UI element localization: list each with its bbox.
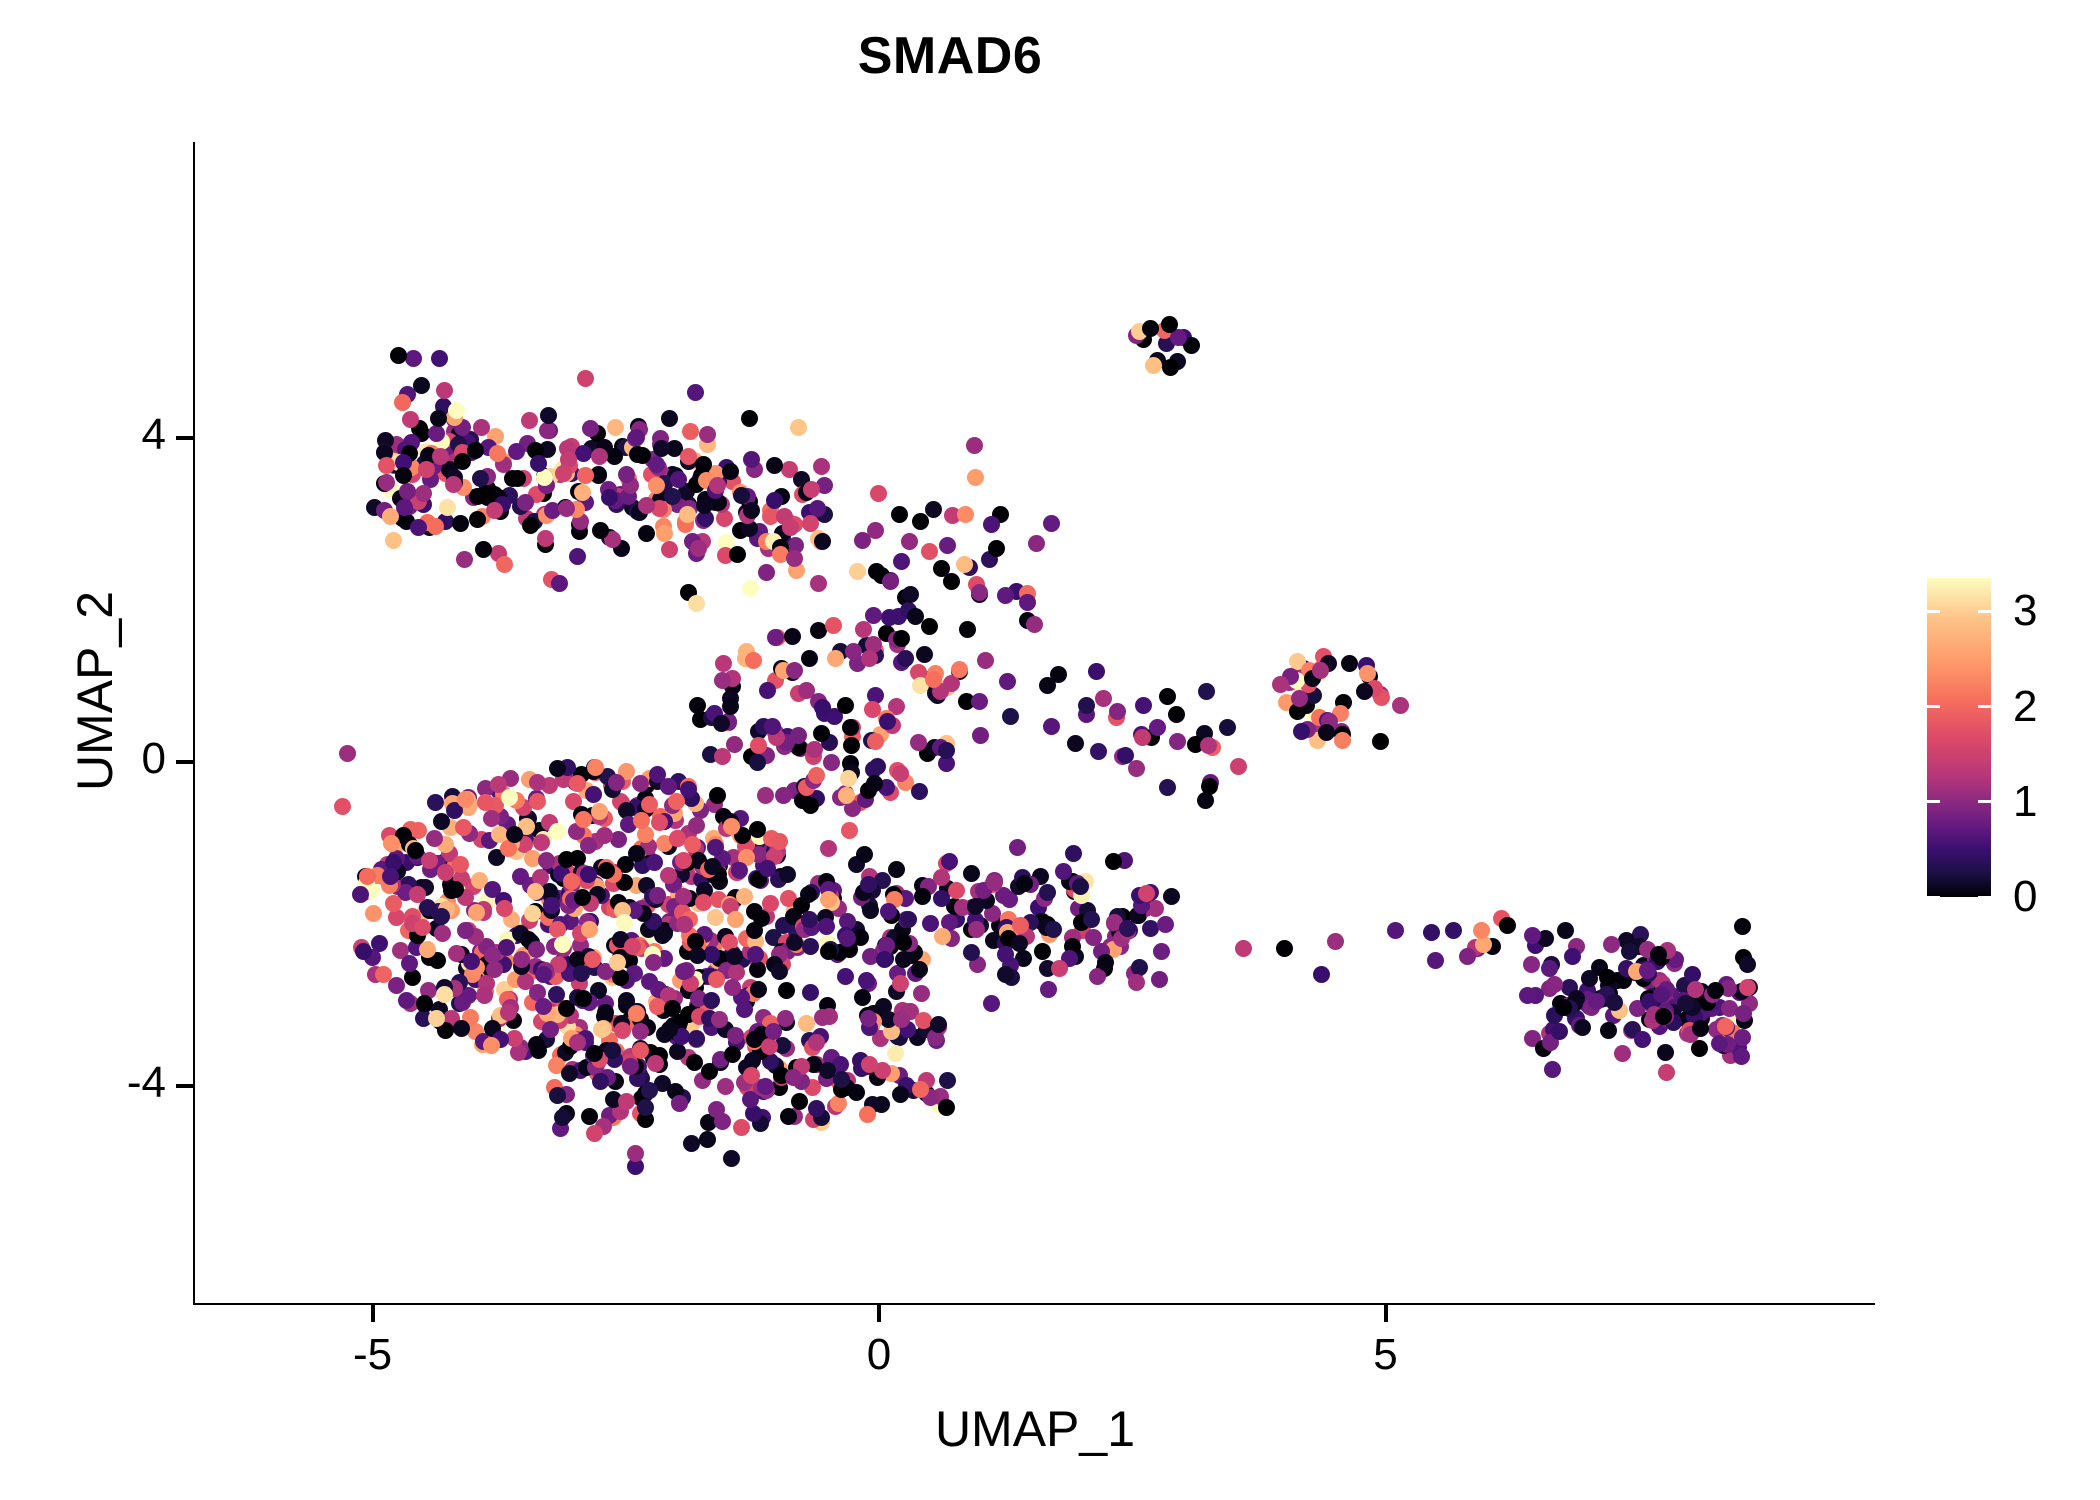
- scatter-point: [1557, 922, 1574, 939]
- scatter-point: [1334, 732, 1351, 749]
- scatter-point: [1603, 936, 1620, 953]
- scatter-point: [891, 506, 908, 523]
- scatter-point: [1012, 917, 1029, 934]
- colorbar-tick-0: [1978, 896, 1991, 899]
- scatter-point: [750, 737, 767, 754]
- scatter-point: [1128, 974, 1145, 991]
- colorbar-tick-3: [1927, 610, 1940, 613]
- scatter-point: [1168, 706, 1185, 723]
- scatter-point: [1219, 719, 1236, 736]
- scatter-point: [1043, 718, 1060, 735]
- scatter-point: [574, 889, 591, 906]
- scatter-point: [983, 995, 1000, 1012]
- scatter-point: [426, 830, 443, 847]
- scatter-point: [1691, 1040, 1708, 1057]
- scatter-point: [522, 517, 539, 534]
- scatter-point: [653, 440, 670, 457]
- scatter-point: [1564, 948, 1581, 965]
- scatter-point: [1028, 535, 1045, 552]
- scatter-point: [1655, 1008, 1672, 1025]
- scatter-point: [418, 461, 435, 478]
- scatter-point: [840, 770, 857, 787]
- scatter-point: [1657, 1044, 1674, 1061]
- scatter-point: [561, 1065, 578, 1082]
- scatter-point: [865, 607, 882, 624]
- scatter-point: [925, 671, 942, 688]
- colorbar-label-0: 0: [2013, 872, 2037, 922]
- scatter-point: [586, 1125, 603, 1142]
- scatter-point: [582, 420, 599, 437]
- scatter-point: [483, 810, 500, 827]
- y-tick-4: [176, 436, 193, 440]
- scatter-point: [1235, 940, 1252, 957]
- scatter-point: [733, 487, 750, 504]
- scatter-point: [1541, 960, 1558, 977]
- scatter-point: [753, 910, 770, 927]
- scatter-point: [528, 941, 545, 958]
- scatter-point: [383, 835, 400, 852]
- scatter-point: [802, 938, 819, 955]
- scatter-point: [604, 1042, 621, 1059]
- scatter-point: [745, 652, 762, 669]
- scatter-point: [339, 745, 356, 762]
- scatter-point: [359, 868, 376, 885]
- scatter-point: [921, 618, 938, 635]
- scatter-point: [938, 1099, 955, 1116]
- x-ticklabel-5: 5: [1286, 1330, 1486, 1380]
- scatter-point: [1653, 986, 1670, 1003]
- scatter-point: [656, 525, 673, 542]
- scatter-point: [628, 429, 645, 446]
- scatter-point: [521, 412, 538, 429]
- scatter-point: [1151, 971, 1168, 988]
- scatter-point: [778, 982, 795, 999]
- scatter-point: [983, 516, 1000, 533]
- scatter-point: [749, 754, 766, 771]
- scatter-point: [580, 866, 597, 883]
- scatter-point: [726, 948, 743, 965]
- scatter-point: [808, 1034, 825, 1051]
- scatter-point: [1614, 1045, 1631, 1062]
- scatter-point: [529, 774, 546, 791]
- scatter-point: [1276, 940, 1293, 957]
- scatter-point: [1134, 729, 1151, 746]
- scatter-point: [1546, 976, 1563, 993]
- scatter-point: [771, 833, 788, 850]
- scatter-point: [1169, 733, 1186, 750]
- scatter-point: [784, 628, 801, 645]
- scatter-point: [591, 448, 608, 465]
- scatter-point: [586, 1045, 603, 1062]
- scatter-point: [771, 963, 788, 980]
- scatter-point: [733, 1119, 750, 1136]
- scatter-point: [1159, 688, 1176, 705]
- scatter-point: [592, 1073, 609, 1090]
- scatter-point: [842, 719, 859, 736]
- scatter-point: [910, 734, 927, 751]
- scatter-point: [405, 350, 422, 367]
- scatter-point: [786, 550, 803, 567]
- scatter-point: [780, 1108, 797, 1125]
- scatter-point: [632, 775, 649, 792]
- scatter-point: [569, 1034, 586, 1051]
- scatter-point: [825, 617, 842, 634]
- scatter-point: [1016, 875, 1033, 892]
- scatter-point: [447, 881, 464, 898]
- scatter-point: [365, 905, 382, 922]
- scatter-point: [916, 646, 933, 663]
- colorbar-tick-0: [1927, 896, 1940, 899]
- scatter-point: [814, 1009, 831, 1026]
- scatter-point: [1650, 946, 1667, 963]
- scatter-point: [688, 817, 705, 834]
- scatter-point: [431, 350, 448, 367]
- scatter-point: [708, 971, 725, 988]
- scatter-point: [622, 1058, 639, 1075]
- scatter-point: [790, 419, 807, 436]
- scatter-point: [457, 922, 474, 939]
- scatter-point: [939, 537, 956, 554]
- scatter-point: [1201, 778, 1218, 795]
- scatter-point: [1739, 979, 1756, 996]
- scatter-point: [421, 852, 438, 869]
- scatter-point: [413, 377, 430, 394]
- scatter-point: [378, 474, 395, 491]
- scatter-point: [577, 467, 594, 484]
- scatter-point: [1392, 697, 1409, 714]
- scatter-point: [841, 822, 858, 839]
- scatter-point: [632, 1023, 649, 1040]
- scatter-point: [862, 902, 879, 919]
- scatter-point: [409, 886, 426, 903]
- scatter-point: [486, 961, 503, 978]
- scatter-point: [854, 989, 871, 1006]
- scatter-point: [1318, 724, 1335, 741]
- scatter-point: [504, 470, 521, 487]
- x-tick-5: [1384, 1305, 1388, 1322]
- scatter-point: [618, 1093, 635, 1110]
- scatter-point: [1519, 987, 1536, 1004]
- scatter-point: [427, 794, 444, 811]
- scatter-point: [609, 954, 626, 971]
- scatter-point: [558, 500, 575, 517]
- scatter-point: [838, 787, 855, 804]
- scatter-point: [616, 914, 633, 931]
- scatter-point: [477, 794, 494, 811]
- scatter-point: [1128, 760, 1145, 777]
- scatter-point: [1019, 594, 1036, 611]
- scatter-point: [858, 972, 875, 989]
- scatter-point: [483, 1037, 500, 1054]
- scatter-point: [703, 992, 720, 1009]
- scatter-point: [988, 540, 1005, 557]
- y-ticklabel--4: -4: [20, 1058, 166, 1108]
- scatter-point: [939, 1072, 956, 1089]
- scatter-point: [671, 1095, 688, 1112]
- scatter-point: [746, 1031, 763, 1048]
- scatter-point: [395, 467, 412, 484]
- scatter-point: [1034, 943, 1051, 960]
- scatter-point: [551, 575, 568, 592]
- scatter-point: [476, 987, 493, 1004]
- scatter-point: [638, 525, 655, 542]
- scatter-point: [428, 1010, 445, 1027]
- scatter-point: [902, 586, 919, 603]
- scatter-point: [1197, 792, 1214, 809]
- scatter-point: [848, 1084, 865, 1101]
- scatter-point: [1684, 966, 1701, 983]
- scatter-point: [802, 984, 819, 1001]
- scatter-point: [675, 852, 692, 869]
- scatter-point: [724, 979, 741, 996]
- scatter-point: [508, 443, 525, 460]
- scatter-point: [855, 621, 872, 638]
- scatter-point: [913, 985, 930, 1002]
- scatter-point: [1153, 943, 1170, 960]
- scatter-point: [1372, 733, 1389, 750]
- scatter-point: [454, 453, 471, 470]
- scatter-point: [489, 445, 506, 462]
- scatter-point: [859, 1106, 876, 1123]
- scatter-point: [893, 630, 910, 647]
- scatter-point: [641, 796, 658, 813]
- scatter-point: [587, 759, 604, 776]
- scatter-point: [1157, 916, 1174, 933]
- scatter-point: [1083, 911, 1100, 928]
- scatter-point: [1427, 952, 1444, 969]
- scatter-point: [1445, 922, 1462, 939]
- y-tick--4: [176, 1084, 193, 1088]
- scatter-point: [577, 370, 594, 387]
- scatter-point: [687, 384, 704, 401]
- scatter-point: [881, 609, 898, 626]
- scatter-point: [683, 1135, 700, 1152]
- scatter-plot-panel: [195, 142, 1875, 1303]
- scatter-point: [1135, 697, 1152, 714]
- scatter-point: [963, 865, 980, 882]
- scatter-point: [1272, 676, 1289, 693]
- scatter-point: [925, 501, 942, 518]
- scatter-point: [592, 522, 609, 539]
- scatter-point: [614, 1022, 631, 1039]
- scatter-point: [1313, 966, 1330, 983]
- scatter-point: [722, 463, 739, 480]
- scatter-point: [457, 791, 474, 808]
- scatter-point: [1145, 357, 1162, 374]
- scatter-point: [1009, 839, 1026, 856]
- scatter-point: [633, 812, 650, 829]
- scatter-point: [876, 951, 893, 968]
- scatter-point: [1574, 1019, 1591, 1036]
- scatter-point: [1499, 917, 1516, 934]
- scatter-point: [861, 1056, 878, 1073]
- scatter-point: [540, 407, 557, 424]
- scatter-point: [649, 887, 666, 904]
- scatter-point: [355, 943, 372, 960]
- scatter-point: [549, 760, 566, 777]
- x-tick--5: [371, 1305, 375, 1322]
- scatter-point: [394, 394, 411, 411]
- scatter-point: [870, 485, 887, 502]
- scatter-point: [971, 584, 988, 601]
- scatter-point: [723, 818, 740, 835]
- scatter-point: [496, 900, 513, 917]
- colorbar-tick-1: [1927, 800, 1940, 803]
- scatter-point: [912, 1081, 929, 1098]
- scatter-point: [892, 1086, 909, 1103]
- scatter-point: [1085, 929, 1102, 946]
- scatter-point: [915, 1012, 932, 1029]
- scatter-point: [827, 650, 844, 667]
- scatter-point: [575, 445, 592, 462]
- scatter-point: [1142, 920, 1159, 937]
- scatter-point: [892, 975, 909, 992]
- scatter-point: [664, 488, 681, 505]
- scatter-point: [648, 477, 665, 494]
- scatter-point: [396, 499, 413, 516]
- scatter-point: [820, 840, 837, 857]
- scatter-point: [1551, 1023, 1568, 1040]
- scatter-point: [1523, 956, 1540, 973]
- scatter-point: [646, 854, 663, 871]
- scatter-point: [1072, 878, 1089, 895]
- scatter-point: [972, 727, 989, 744]
- scatter-point: [580, 837, 597, 854]
- scatter-point: [468, 904, 485, 921]
- scatter-point: [475, 541, 492, 558]
- scatter-point: [1198, 683, 1215, 700]
- scatter-point: [1621, 943, 1638, 960]
- scatter-point: [707, 909, 724, 926]
- scatter-point: [1055, 863, 1072, 880]
- scatter-point: [1065, 845, 1082, 862]
- scatter-point: [957, 506, 974, 523]
- scatter-point: [434, 925, 451, 942]
- scatter-point: [900, 911, 917, 928]
- colorbar-gradient: [1927, 578, 1991, 897]
- scatter-point: [813, 725, 830, 742]
- scatter-point: [1423, 924, 1440, 941]
- scatter-point: [1735, 1005, 1752, 1022]
- scatter-point: [791, 1093, 808, 1110]
- scatter-point: [967, 469, 984, 486]
- scatter-point: [782, 519, 799, 536]
- scatter-point: [1200, 737, 1217, 754]
- scatter-point: [1163, 888, 1180, 905]
- scatter-point: [943, 573, 960, 590]
- scatter-point: [708, 1101, 725, 1118]
- scatter-point: [911, 961, 928, 978]
- scatter-point: [682, 423, 699, 440]
- scatter-point: [742, 580, 759, 597]
- scatter-point: [661, 1021, 678, 1038]
- scatter-point: [1639, 962, 1656, 979]
- scatter-point: [601, 489, 618, 506]
- scatter-point: [823, 754, 840, 771]
- scatter-point: [641, 1082, 658, 1099]
- scatter-point: [849, 563, 866, 580]
- scatter-point: [575, 811, 592, 828]
- scatter-point: [813, 458, 830, 475]
- scatter-point: [675, 888, 692, 905]
- scatter-point: [933, 890, 950, 907]
- scatter-point: [664, 1000, 681, 1017]
- x-ticklabel--5: -5: [273, 1330, 473, 1380]
- scatter-point: [1734, 918, 1751, 935]
- scatter-point: [1387, 922, 1404, 939]
- scatter-point: [529, 793, 546, 810]
- scatter-point: [716, 510, 733, 527]
- scatter-point: [535, 998, 552, 1015]
- scatter-point: [512, 868, 529, 885]
- scatter-point: [867, 733, 884, 750]
- scatter-point: [959, 621, 976, 638]
- scatter-point: [880, 903, 897, 920]
- scatter-point: [1677, 995, 1694, 1012]
- scatter-point: [398, 992, 415, 1009]
- scatter-point: [1341, 655, 1358, 672]
- scatter-point: [414, 919, 431, 936]
- scatter-point: [971, 693, 988, 710]
- y-axis-label: UMAP_2: [66, 391, 124, 991]
- colorbar-tick-2: [1978, 705, 1991, 708]
- scatter-point: [757, 787, 774, 804]
- scatter-point: [437, 864, 454, 881]
- scatter-point: [837, 697, 854, 714]
- scatter-point: [1105, 853, 1122, 870]
- scatter-point: [798, 1015, 815, 1032]
- scatter-point: [933, 869, 950, 886]
- scatter-point: [837, 968, 854, 985]
- scatter-point: [1090, 743, 1107, 760]
- scatter-point: [1138, 885, 1155, 902]
- scatter-point: [688, 595, 705, 612]
- scatter-point: [628, 1005, 645, 1022]
- scatter-point: [1026, 616, 1043, 633]
- scatter-point: [1119, 920, 1136, 937]
- scatter-point: [585, 786, 602, 803]
- scatter-point: [1162, 359, 1179, 376]
- scatter-point: [786, 662, 803, 679]
- scatter-point: [661, 541, 678, 558]
- scatter-point: [956, 556, 973, 573]
- scatter-point: [820, 943, 837, 960]
- y-tick-0: [176, 760, 193, 764]
- scatter-point: [1356, 683, 1373, 700]
- scatter-point: [607, 419, 624, 436]
- scatter-point: [549, 823, 566, 840]
- scatter-point: [448, 402, 465, 419]
- scatter-point: [452, 515, 469, 532]
- scatter-point: [762, 895, 779, 912]
- scatter-point: [669, 830, 686, 847]
- scatter-point: [803, 481, 820, 498]
- scatter-point: [938, 742, 955, 759]
- scatter-point: [1544, 1061, 1561, 1078]
- scatter-point: [967, 898, 984, 915]
- scatter-point: [977, 652, 994, 669]
- scatter-point: [968, 921, 985, 938]
- scatter-point: [554, 1109, 571, 1126]
- scatter-point: [895, 951, 912, 968]
- scatter-point: [1555, 999, 1572, 1016]
- scatter-point: [419, 941, 436, 958]
- scatter-point: [808, 1100, 825, 1117]
- scatter-point: [911, 783, 928, 800]
- scatter-point: [800, 886, 817, 903]
- colorbar-label-3: 3: [2013, 586, 2037, 636]
- scatter-point: [893, 1011, 910, 1028]
